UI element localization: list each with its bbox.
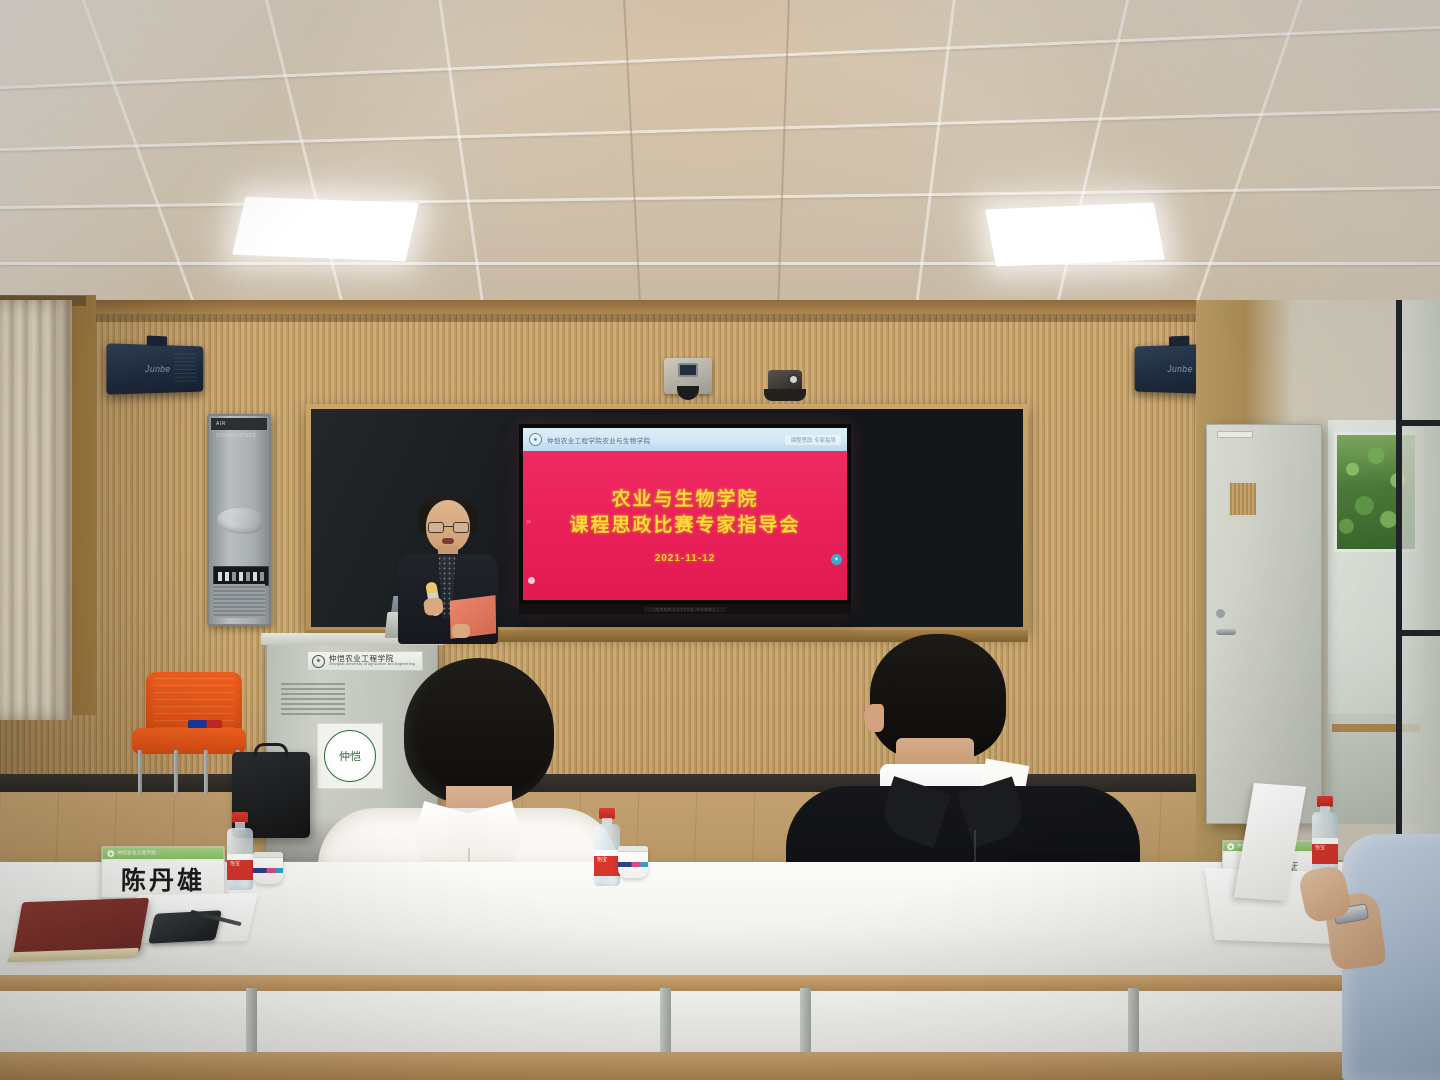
table-front-edge	[0, 1052, 1440, 1080]
attendee-ear	[864, 704, 884, 732]
cup-rim	[253, 852, 283, 858]
speaker-brand-label: Junbe	[145, 364, 171, 374]
presenter-hand-left	[423, 597, 444, 616]
ceiling	[0, 0, 1440, 318]
flower-icon: ✿	[107, 850, 114, 857]
chair-seat	[132, 728, 246, 754]
slide-banner: ❀ 仲恺农业工程学院农业与生物学院 课程思政 专家指导	[523, 428, 847, 451]
display-model-label: INTERACTIVE PANEL	[644, 607, 726, 612]
meeting-room-photo: AIR CONDITIONER Junbe Junbe ❀	[0, 0, 1440, 1080]
university-logo-icon: ❀	[529, 433, 542, 446]
chevron-right-icon[interactable]: »	[526, 516, 531, 526]
name-plate-org: 仲恺农业工程学院	[117, 850, 156, 856]
orange-chair[interactable]	[130, 672, 248, 788]
paper-cup[interactable]	[253, 852, 283, 884]
flower-icon: ✿	[1227, 843, 1234, 850]
paper-cup[interactable]	[618, 846, 648, 878]
ceiling-light-wash-left	[0, 0, 320, 318]
entry-door[interactable]	[1206, 424, 1322, 824]
attendee-blue-shirt	[1332, 820, 1440, 1080]
cup-band	[253, 868, 283, 873]
glasses-icon	[428, 522, 469, 533]
speaker-mount	[1169, 336, 1189, 347]
name-plate-left: ✿ 仲恺农业工程学院 陈丹雄	[100, 846, 225, 898]
presentation-display[interactable]: ❀ 仲恺农业工程学院农业与生物学院 课程思政 专家指导 农业与生物学院 课程思政…	[519, 424, 851, 614]
water-bottle[interactable]: 怡宝	[594, 808, 620, 886]
wall-speaker-left: Junbe	[106, 343, 203, 394]
slide-org-text: 仲恺农业工程学院农业与生物学院	[547, 435, 651, 445]
door-viewing-window	[1228, 481, 1258, 517]
chair-leg	[204, 750, 208, 794]
chair-leg	[174, 750, 178, 794]
air-conditioner-display	[213, 566, 269, 586]
presenter-hand-right	[452, 624, 470, 638]
bottle-label: 怡宝	[227, 854, 253, 880]
slide-title-line2: 课程思政比赛专家指导会	[569, 513, 800, 539]
attendee-hair	[404, 658, 554, 804]
ceiling-light-wash-right	[1080, 0, 1440, 318]
door-plate	[1217, 431, 1253, 438]
door-handle[interactable]	[1216, 629, 1236, 635]
air-conditioner-vent	[213, 584, 265, 618]
presenter-mouth	[442, 538, 454, 544]
slide: ❀ 仲恺农业工程学院农业与生物学院 课程思政 专家指导 农业与生物学院 课程思政…	[523, 428, 847, 600]
conference-table-front	[0, 991, 1440, 1061]
ceiling-light-panel	[985, 202, 1165, 266]
speaker-mount	[147, 335, 167, 346]
chair-leg	[138, 750, 142, 794]
window-curtain	[0, 300, 72, 720]
bag-handle	[254, 743, 288, 757]
notebook[interactable]	[13, 898, 149, 956]
air-conditioner-label: AIR CONDITIONER	[211, 418, 267, 430]
cup-band	[618, 862, 648, 867]
slide-body: 农业与生物学院 课程思政比赛专家指导会 2021-11-12	[523, 451, 847, 600]
water-bottle[interactable]: 怡宝	[227, 812, 253, 890]
wall-camera-icon	[664, 358, 712, 394]
screen-status-icon[interactable]: ✦	[831, 554, 842, 565]
door-lock-icon[interactable]	[1216, 609, 1225, 618]
camera-lens-icon	[678, 363, 698, 377]
speaker-brand-label: Junbe	[1167, 364, 1193, 374]
ceiling-light-panel	[232, 197, 419, 262]
display-bezel-bottom: INTERACTIVE PANEL	[519, 604, 851, 614]
slide-meta-text: 课程思政 专家指导	[785, 435, 841, 445]
glass-partition	[1396, 300, 1440, 860]
table-edge	[0, 975, 1440, 991]
name-plate-header: ✿ 仲恺农业工程学院	[102, 847, 223, 859]
bottle-label: 怡宝	[594, 850, 620, 876]
slide-date: 2021-11-12	[655, 553, 716, 564]
speaker-vent	[174, 353, 196, 384]
screen-power-indicator	[528, 577, 535, 584]
slide-title-line1: 农业与生物学院	[611, 487, 758, 513]
cup-rim	[618, 846, 648, 852]
presenter-person	[392, 490, 504, 642]
ptz-camera-icon	[764, 370, 806, 404]
air-conditioner[interactable]: AIR CONDITIONER	[207, 414, 271, 626]
camera-lens-icon	[788, 374, 799, 385]
ceiling-grid-line	[0, 262, 1440, 265]
air-conditioner-trim	[217, 508, 263, 534]
